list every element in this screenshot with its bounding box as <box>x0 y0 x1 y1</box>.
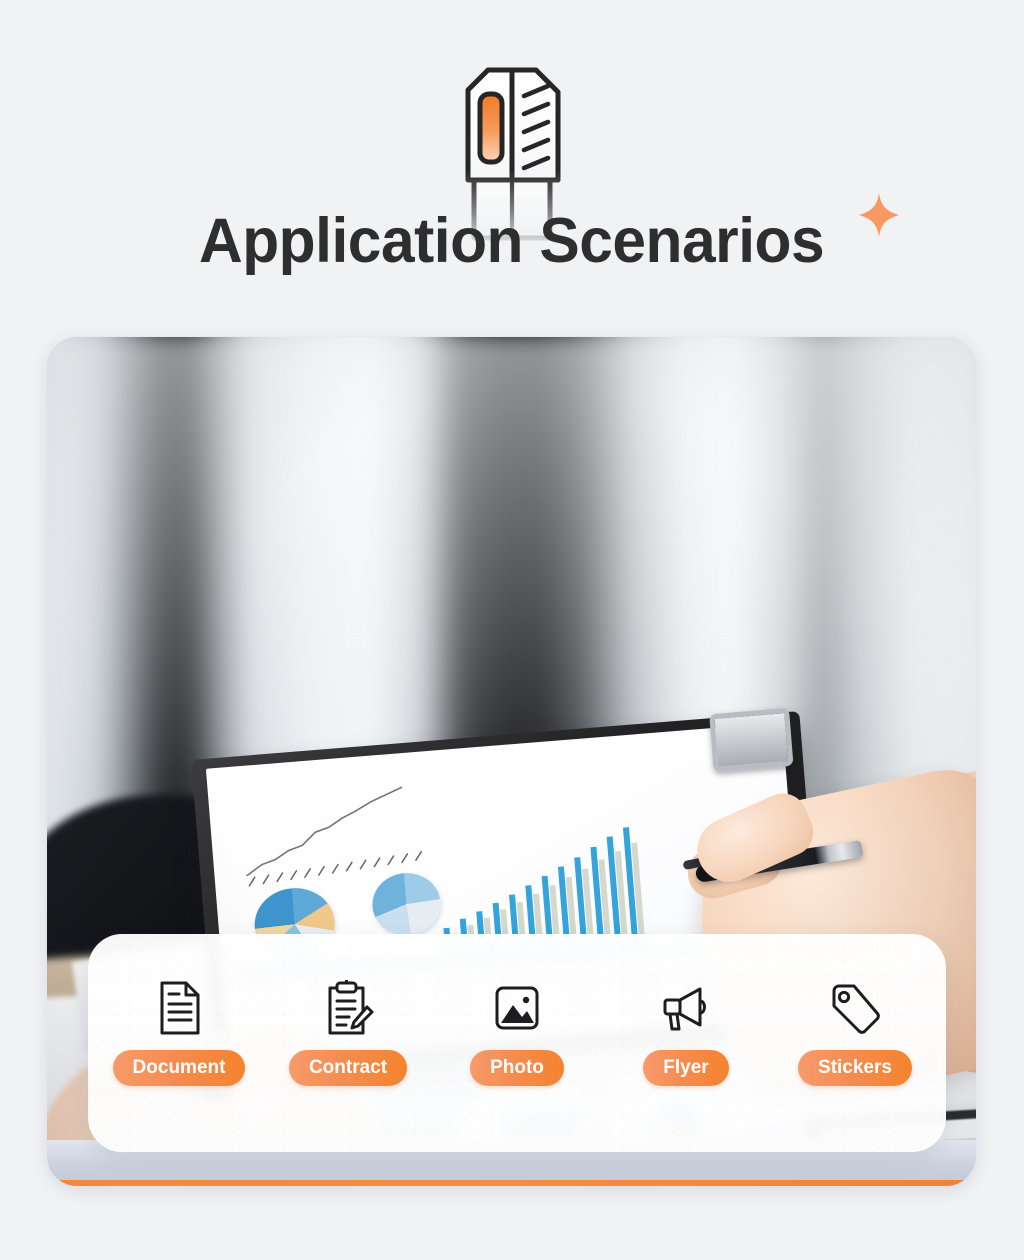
sparkle-star-icon <box>858 192 900 238</box>
badge-photo[interactable]: Photo <box>444 980 590 1086</box>
badge-label[interactable]: Contract <box>289 1050 407 1086</box>
scenario-badge-row: Document Contract <box>88 980 946 1086</box>
badge-flyer[interactable]: Flyer <box>613 980 759 1086</box>
badge-label[interactable]: Stickers <box>798 1050 912 1086</box>
badge-contract[interactable]: Contract <box>275 980 421 1086</box>
trend-line-chart <box>236 776 443 888</box>
badge-label[interactable]: Document <box>113 1050 246 1086</box>
page-header: Application Scenarios <box>0 0 1024 320</box>
photo-card-orange-edge <box>47 1180 976 1186</box>
image-picture-icon <box>491 980 543 1036</box>
page-title: Application Scenarios <box>199 210 824 273</box>
badge-stickers[interactable]: Stickers <box>782 980 928 1086</box>
megaphone-icon <box>660 980 712 1036</box>
document-file-icon <box>153 980 205 1036</box>
badge-document[interactable]: Document <box>106 980 252 1086</box>
badge-label[interactable]: Flyer <box>643 1050 728 1086</box>
report-pie-chart-2 <box>370 871 443 938</box>
clipboard-clip-top <box>709 708 793 772</box>
scenario-badge-card: Document Contract <box>88 934 946 1152</box>
clipboard-pencil-icon <box>322 980 374 1036</box>
price-tag-icon <box>829 980 881 1036</box>
badge-label[interactable]: Photo <box>470 1050 564 1086</box>
